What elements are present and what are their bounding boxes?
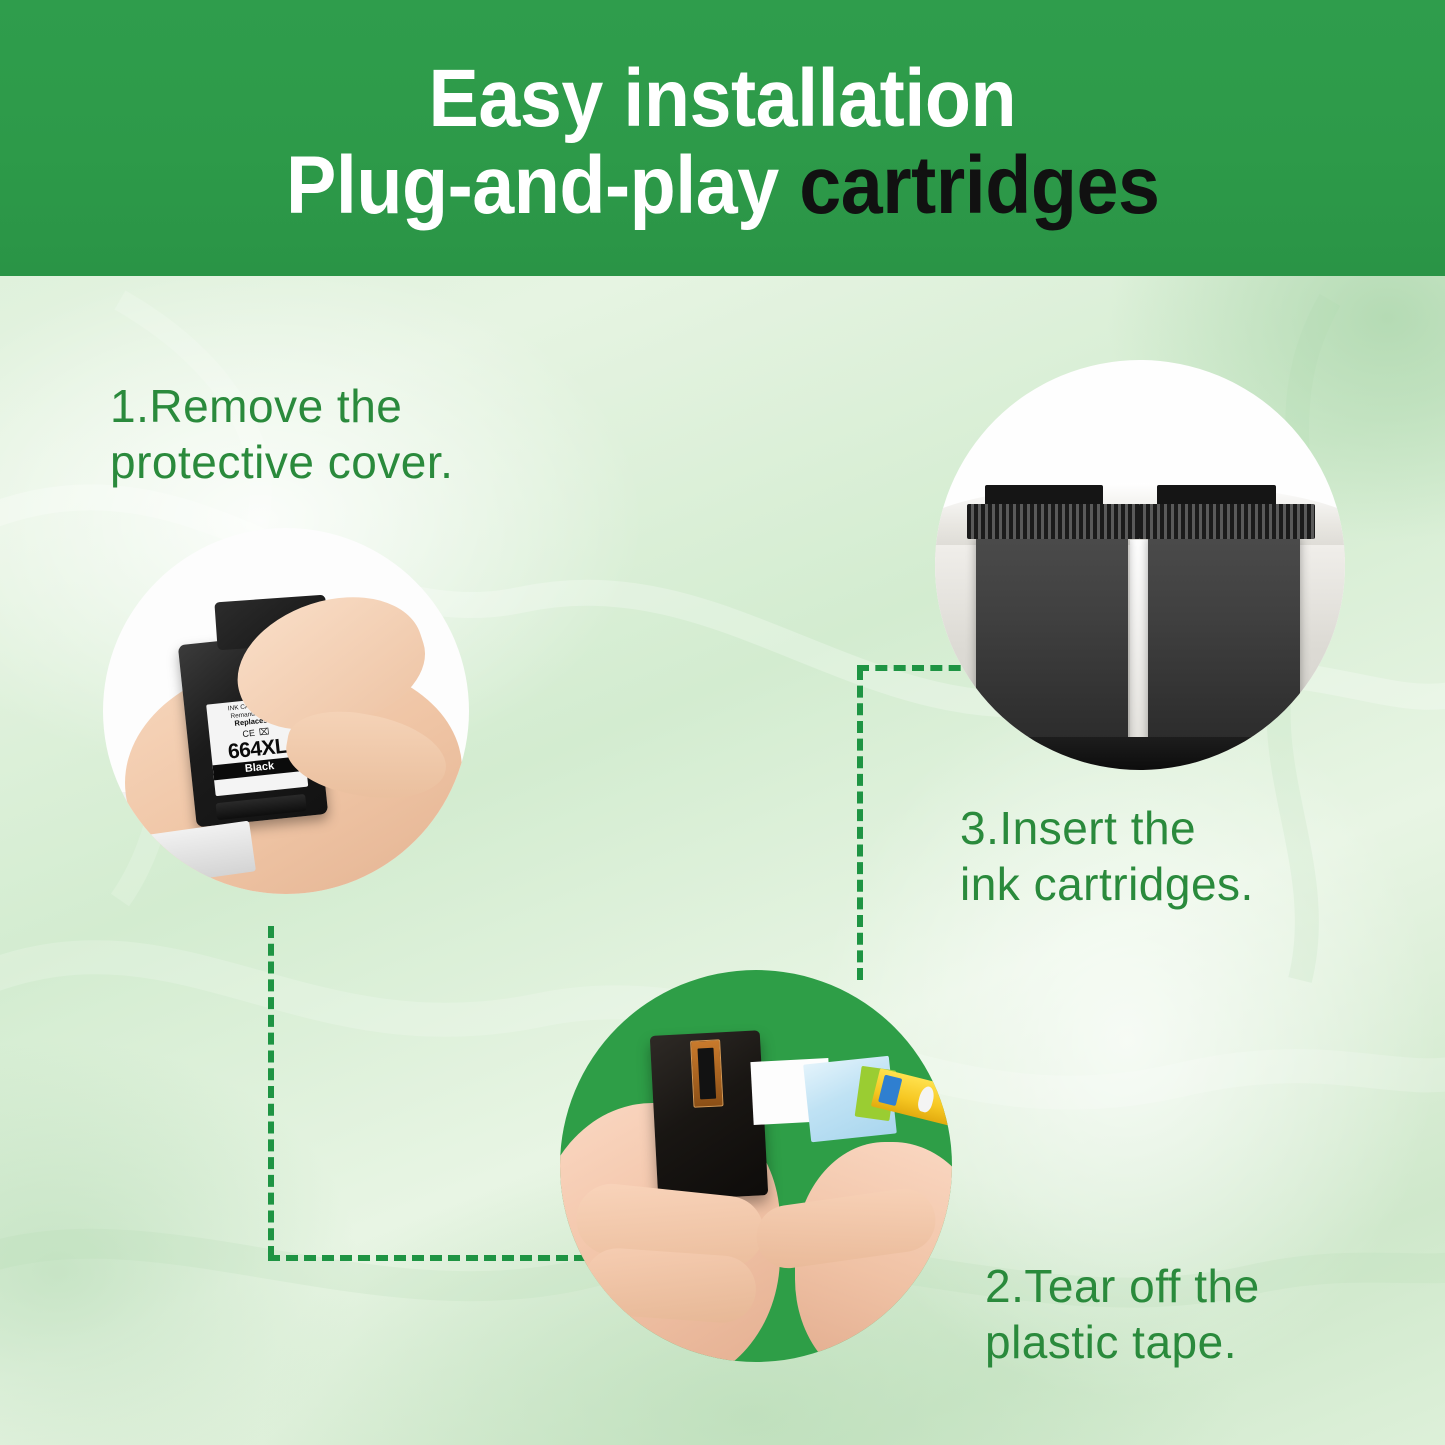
banner-title-line-1: Easy installation bbox=[429, 56, 1017, 143]
banner-title-light-part: Plug-and-play bbox=[286, 140, 779, 231]
tab-icon-white bbox=[916, 1085, 936, 1114]
installed-cartridge-left bbox=[976, 532, 1128, 745]
banner-title-line-2: Plug-and-play cartridges bbox=[286, 143, 1159, 230]
left-hand-finger-2 bbox=[581, 1246, 758, 1324]
cartridge-being-unwrapped bbox=[650, 1030, 768, 1200]
cartridge-contact-chip bbox=[690, 1039, 724, 1108]
cartridge-contact-comb-right bbox=[1139, 504, 1315, 538]
cartridge-nozzle-strip bbox=[216, 794, 307, 820]
step-3-caption: 3.Insert the ink cartridges. bbox=[960, 800, 1254, 912]
connector-2-to-3-vertical bbox=[857, 668, 863, 980]
tab-icon-blue bbox=[878, 1075, 902, 1106]
step-2-caption: 2.Tear off the plastic tape. bbox=[985, 1258, 1260, 1370]
step-1-caption: 1.Remove the protective cover. bbox=[110, 378, 453, 490]
step-1-photo-circle: INK CARTRIDGE Remanufactured Replaces H … bbox=[103, 528, 469, 894]
step-3-photo-circle bbox=[935, 360, 1345, 770]
connector-1-to-2-vertical bbox=[268, 926, 274, 1258]
banner-title-dark-part: cartridges bbox=[799, 140, 1159, 231]
carriage-divider bbox=[1130, 540, 1151, 745]
connector-1-to-2-horizontal bbox=[268, 1255, 586, 1261]
carriage-base-shadow bbox=[951, 737, 1328, 770]
installed-cartridge-right bbox=[1148, 532, 1300, 745]
cartridge-contact-comb-left bbox=[967, 504, 1143, 538]
step-2-photo-circle bbox=[560, 970, 952, 1362]
header-banner: Easy installation Plug-and-play cartridg… bbox=[0, 0, 1445, 276]
installation-infographic: Easy installation Plug-and-play cartridg… bbox=[0, 0, 1445, 1445]
